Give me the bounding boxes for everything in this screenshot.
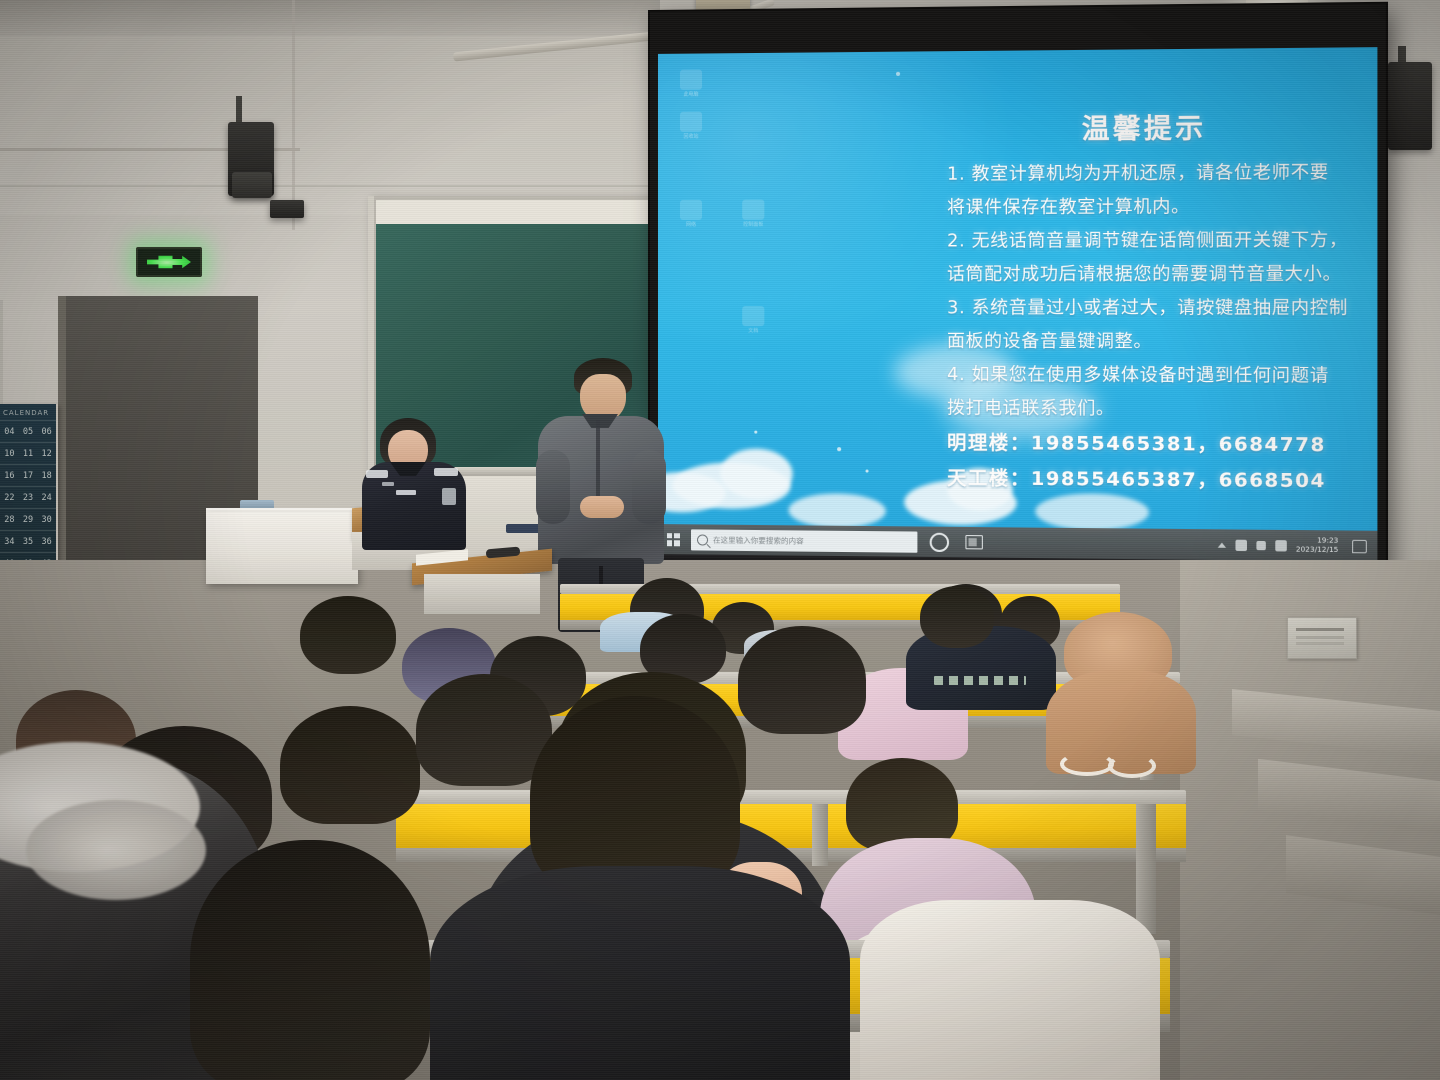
calendar-day: 23 — [19, 493, 38, 503]
sparkle — [896, 72, 900, 76]
wall-mounted-device — [270, 200, 304, 218]
officer-arm-patch — [442, 488, 456, 505]
desktop-icon[interactable]: 文档 — [736, 306, 770, 334]
calendar-day: 18 — [37, 471, 56, 481]
calendar-day: 16 — [0, 471, 19, 481]
student-vest — [860, 900, 1160, 1080]
presenter-arm — [536, 450, 570, 524]
student-head — [920, 586, 994, 648]
student-jacket — [430, 866, 850, 1080]
projection-screen: 此电脑 回收站 网络 控制面板 文档 温馨提示 1. 教室计算机均为开机还原 — [650, 4, 1386, 576]
calendar-day: 05 — [19, 427, 38, 437]
calendar-header: CALENDAR — [0, 406, 56, 420]
taskbar-clock[interactable]: 19:23 2023/12/15 — [1296, 536, 1338, 555]
slide-line: 4. 如果您在使用多媒体设备时遇到任何问题请 — [947, 359, 1371, 394]
calendar-day: 28 — [0, 515, 19, 525]
clock-time: 19:23 — [1317, 536, 1338, 545]
desktop-icon[interactable]: 网络 — [674, 200, 708, 228]
contact-line: 明理楼：19855465381，6684778 — [947, 426, 1371, 464]
ceiling-speaker-right — [1388, 62, 1432, 150]
desktop-icon-label: 回收站 — [674, 134, 708, 140]
slide-line: 2. 无线话筒音量调节键在话筒侧面开关键下方， — [947, 224, 1371, 258]
slide-line: 拨打电话联系我们。 — [947, 392, 1371, 428]
windows-logo-icon — [666, 533, 679, 546]
emergency-exit-sign — [136, 247, 202, 277]
officer-epaulette — [366, 470, 388, 478]
cloud-graphic — [720, 448, 792, 499]
desktop-icon-label: 网络 — [674, 222, 708, 228]
volume-icon[interactable] — [1256, 540, 1265, 549]
notification-center-icon[interactable] — [1352, 539, 1367, 553]
documents-icon — [742, 306, 764, 326]
recycle-bin-icon — [680, 112, 702, 132]
desktop-icon-label: 此电脑 — [674, 92, 708, 98]
slide-line: 3. 系统音量过小或者过大，请按键盘抽屉内控制 — [947, 292, 1371, 326]
wall-calendar: CALENDAR 04 05 06 10 11 12 16 17 18 22 2… — [0, 404, 58, 574]
blackboard-top-panel — [376, 200, 656, 224]
cortana-icon[interactable] — [930, 532, 949, 551]
calendar-day: 22 — [0, 493, 19, 503]
student-head — [738, 626, 866, 734]
bench-desk-top — [396, 790, 1186, 804]
calendar-day: 11 — [19, 449, 38, 459]
desktop-icon-label: 控制面板 — [736, 222, 770, 228]
presenter-arm — [632, 450, 666, 524]
plate-text-lines — [1296, 628, 1344, 631]
system-tray: 19:23 2023/12/15 — [1217, 535, 1377, 555]
lecture-hall-photo: CALENDAR 04 05 06 10 11 12 16 17 18 22 2… — [0, 0, 1440, 1080]
desktop-icon-label: 文档 — [736, 328, 770, 334]
coat-drawstring — [1060, 752, 1114, 776]
taskbar-search-input[interactable]: 在这里输入你要搜索的内容 — [691, 529, 917, 552]
bench-leg — [1136, 804, 1156, 934]
student-head — [416, 674, 552, 786]
desktop-icon[interactable]: 回收站 — [674, 112, 708, 140]
projected-image: 此电脑 回收站 网络 控制面板 文档 温馨提示 1. 教室计算机均为开机还原 — [658, 47, 1377, 562]
slide-title: 温馨提示 — [947, 105, 1371, 148]
room-information-plate — [1287, 617, 1357, 659]
calendar-row: 34 35 36 — [0, 531, 56, 552]
calendar-day: 06 — [37, 427, 56, 437]
calendar-day: 29 — [19, 515, 38, 525]
task-view-icon[interactable] — [965, 535, 982, 549]
student-head — [190, 840, 430, 1080]
sparkle — [837, 447, 841, 451]
podium — [206, 512, 358, 584]
wall-seam — [292, 0, 295, 230]
sparkle — [866, 470, 869, 473]
bench-desk-front — [396, 804, 1186, 848]
calendar-day: 24 — [37, 493, 56, 503]
clock-date: 2023/12/15 — [1296, 545, 1338, 555]
hoodie-logo-text — [934, 676, 1026, 685]
calendar-row: 16 17 18 — [0, 465, 56, 486]
slide-line: 将课件保存在教室计算机内。 — [947, 190, 1371, 225]
bench-leg — [812, 804, 828, 866]
student-head — [300, 596, 396, 674]
network-icon — [680, 200, 702, 220]
calendar-day: 36 — [37, 537, 56, 547]
police-officer — [362, 418, 466, 548]
calendar-row: 28 29 30 — [0, 509, 56, 530]
officer-epaulette — [434, 468, 458, 476]
calendar-day: 30 — [37, 515, 56, 525]
calendar-day: 10 — [0, 449, 19, 459]
show-hidden-icons-icon[interactable] — [1217, 542, 1225, 547]
officer-badge — [396, 490, 416, 495]
coat-drawstring — [1108, 754, 1156, 778]
desktop-icon[interactable]: 控制面板 — [736, 200, 770, 228]
calendar-row: 22 23 24 — [0, 487, 56, 508]
calendar-row: 04 05 06 — [0, 421, 56, 442]
student-head — [280, 706, 420, 824]
presenter-hands — [580, 496, 624, 518]
running-man-icon — [147, 255, 191, 270]
calendar-row: 10 11 12 — [0, 443, 56, 464]
slide-line: 1. 教室计算机均为开机还原，请各位老师不要 — [947, 156, 1371, 192]
calendar-day: 35 — [19, 537, 38, 547]
slide-content: 温馨提示 1. 教室计算机均为开机还原，请各位老师不要 将课件保存在教室计算机内… — [947, 105, 1371, 500]
slide-line: 面板的设备音量键调整。 — [947, 325, 1371, 360]
front-desk-base — [424, 574, 540, 614]
desktop-icon[interactable]: 此电脑 — [674, 69, 708, 97]
calendar-day: 04 — [0, 427, 19, 437]
control-panel-icon — [742, 200, 764, 220]
ceiling-speaker-left-lower — [232, 172, 272, 198]
calendar-day: 34 — [0, 537, 19, 547]
input-method-icon[interactable] — [1275, 540, 1287, 551]
sparkle — [754, 431, 757, 434]
slide-line: 话筒配对成功后请根据您的需要调节音量大小。 — [947, 258, 1371, 292]
network-icon[interactable] — [1235, 539, 1247, 550]
calendar-day: 17 — [19, 471, 38, 481]
contact-line: 天工楼：19855465387，6668504 — [947, 461, 1371, 500]
calendar-day: 12 — [37, 449, 56, 459]
computer-icon — [680, 70, 702, 90]
wall-seam — [0, 185, 660, 187]
search-placeholder: 在这里输入你要搜索的内容 — [713, 534, 804, 546]
fur-collar — [26, 800, 206, 900]
search-icon — [697, 534, 708, 545]
officer-badge — [382, 482, 394, 486]
